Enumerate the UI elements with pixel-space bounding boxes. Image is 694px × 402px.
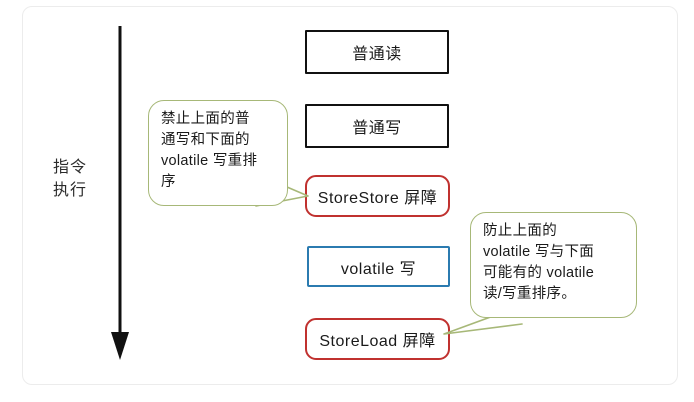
axis-label-line-1: 指令 <box>42 156 98 179</box>
op-box-storeload-barrier-label: StoreLoad 屏障 <box>319 327 435 351</box>
op-box-normal-write[interactable]: 普通写 <box>305 104 449 148</box>
callout-storeload-line-3: 可能有的 volatile <box>483 263 625 284</box>
instruction-execution-arrow <box>104 26 138 364</box>
callout-storestore: 禁止上面的普 通写和下面的 volatile 写重排 序 <box>148 100 288 206</box>
op-box-normal-read[interactable]: 普通读 <box>305 30 449 74</box>
op-box-normal-read-label: 普通读 <box>352 40 402 64</box>
axis-label: 指令 执行 <box>42 156 98 202</box>
op-box-storestore-barrier[interactable]: StoreStore 屏障 <box>305 175 450 217</box>
op-box-storeload-barrier[interactable]: StoreLoad 屏障 <box>305 318 450 360</box>
callout-storestore-line-4: 序 <box>161 172 276 193</box>
callout-storestore-line-2: 通写和下面的 <box>161 130 276 151</box>
op-box-normal-write-label: 普通写 <box>352 114 402 138</box>
callout-storeload-line-1: 防止上面的 <box>483 221 625 242</box>
op-box-storestore-barrier-label: StoreStore 屏障 <box>318 184 437 208</box>
axis-label-line-2: 执行 <box>42 179 98 202</box>
callout-storeload-line-2: volatile 写与下面 <box>483 242 625 263</box>
callout-storeload: 防止上面的 volatile 写与下面 可能有的 volatile 读/写重排序… <box>470 212 637 318</box>
callout-storestore-line-3: volatile 写重排 <box>161 151 276 172</box>
op-box-volatile-write[interactable]: volatile 写 <box>307 246 450 287</box>
diagram-canvas: 指令 执行 普通读 普通写 StoreStore 屏障 volatile 写 S… <box>0 0 694 402</box>
callout-storeload-line-4: 读/写重排序。 <box>483 284 625 305</box>
op-box-volatile-write-label: volatile 写 <box>341 255 416 279</box>
callout-storestore-line-1: 禁止上面的普 <box>161 109 276 130</box>
